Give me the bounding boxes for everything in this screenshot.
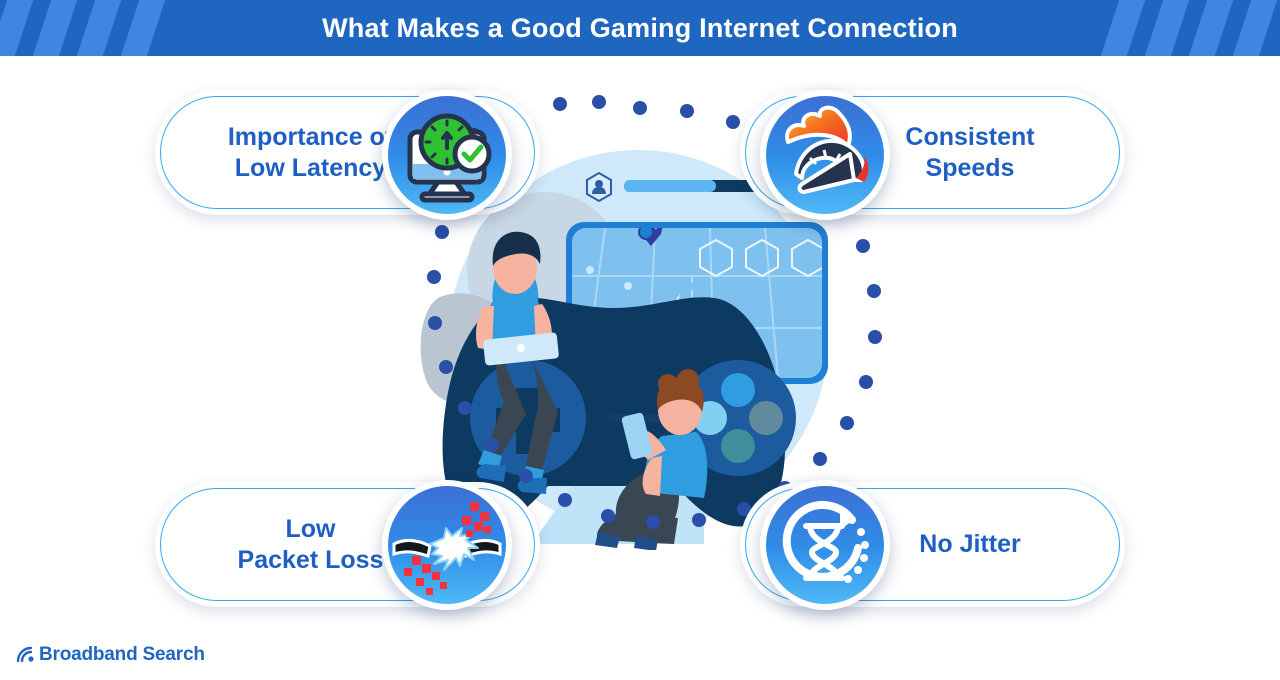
bubble-gradient: [388, 96, 506, 214]
bubble-gradient: [766, 96, 884, 214]
infographic-canvas: What Makes a Good Gaming Internet Connec…: [0, 0, 1280, 680]
page-title: What Makes a Good Gaming Internet Connec…: [0, 0, 1280, 56]
wifi-signal-icon: [14, 644, 36, 666]
feature-label-line2: Low Latency: [235, 153, 386, 184]
bubble-gradient: [388, 486, 506, 604]
feature-icon-bubble-low-packet-loss[interactable]: [382, 480, 512, 610]
feature-label-line1: Consistent: [905, 122, 1034, 153]
footer-brand-text: Broadband Search: [39, 644, 205, 666]
feature-label-line1: Importance of: [228, 122, 393, 153]
feature-icon-bubble-no-jitter[interactable]: [760, 480, 890, 610]
header-banner: What Makes a Good Gaming Internet Connec…: [0, 0, 1280, 56]
feature-icon-bubble-low-latency[interactable]: [382, 90, 512, 220]
flaming-speedometer-icon: [766, 96, 884, 214]
bubble-gradient: [766, 486, 884, 604]
monitor-speedometer-check-icon: [388, 96, 506, 214]
footer-logo[interactable]: Broadband Search: [14, 644, 205, 666]
feature-icon-bubble-consistent-speeds[interactable]: [760, 90, 890, 220]
feature-label-line2: Packet Loss: [238, 545, 384, 576]
feature-label-line2: Speeds: [926, 153, 1015, 184]
broken-cable-icon: [388, 486, 506, 604]
feature-label-line1: Low: [286, 514, 336, 545]
hourglass-refresh-icon: [766, 486, 884, 604]
feature-label-line1: No Jitter: [919, 529, 1020, 560]
